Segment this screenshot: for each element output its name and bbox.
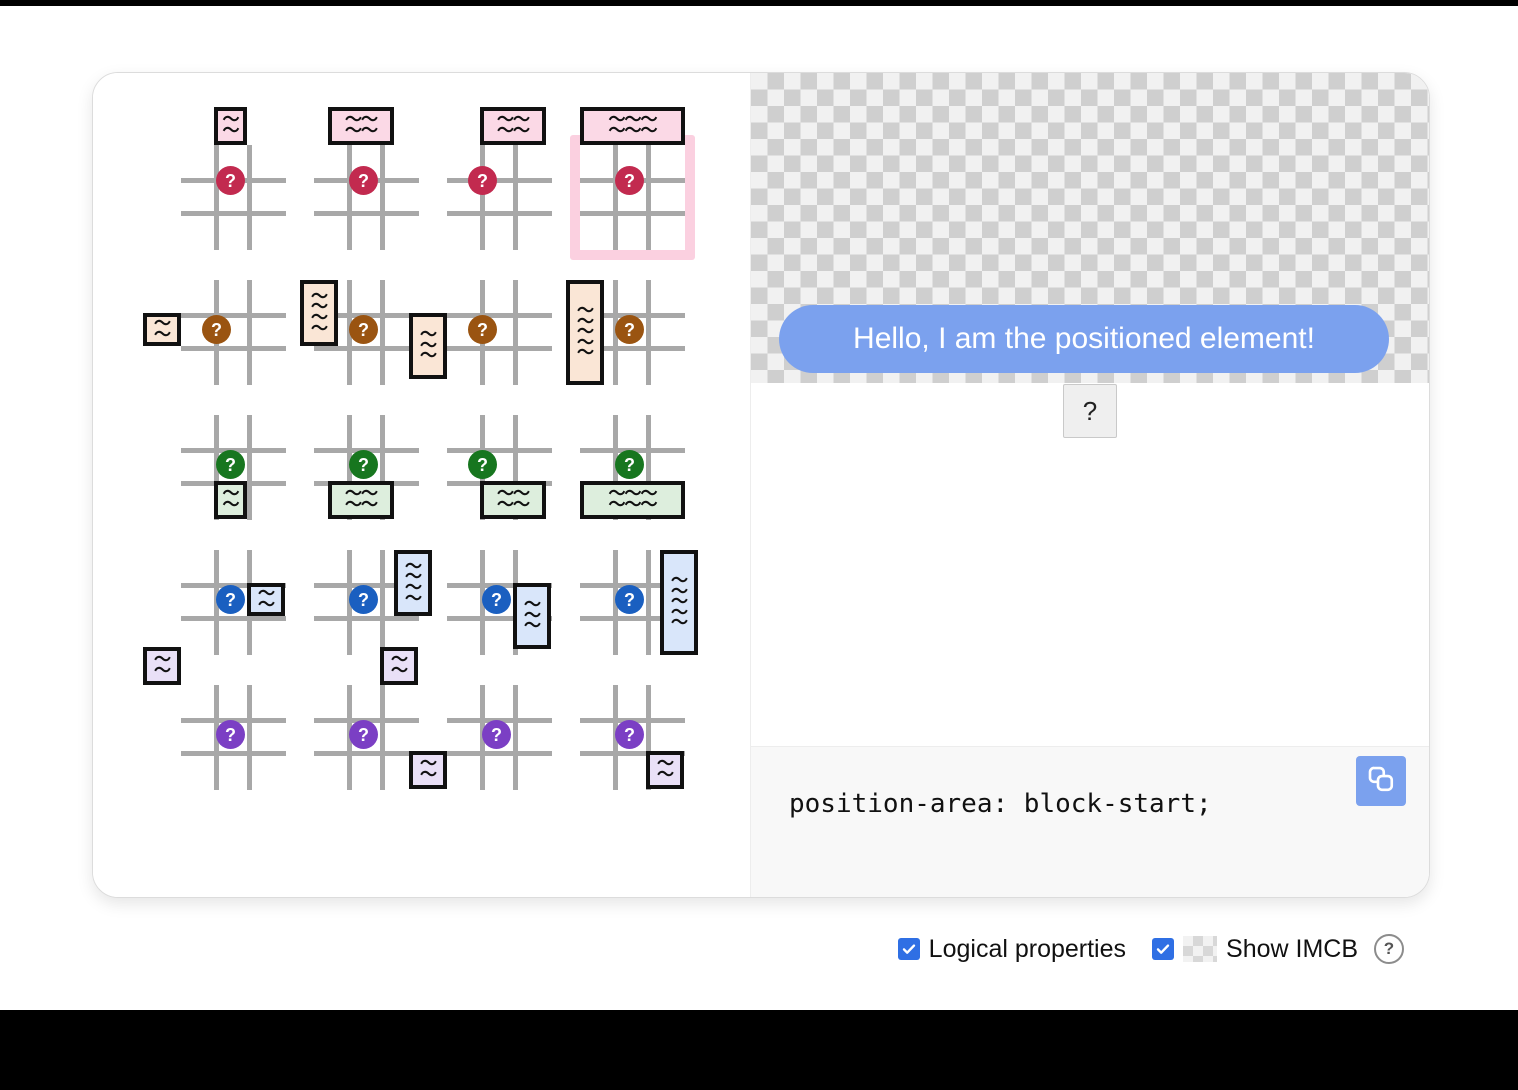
squiggle-text-icon: 〜 <box>420 770 436 781</box>
position-area-diagram: 〜〜〜〜〜〜? <box>580 145 685 250</box>
anchor-dot-icon: ? <box>216 720 245 749</box>
show-imcb-label: Show IMCB <box>1226 935 1358 964</box>
positioned-element-glyph: 〜〜〜〜 <box>328 107 394 145</box>
code-panel: position-area: block-start; <box>751 746 1429 897</box>
position-area-diagram: 〜〜〜〜? <box>314 280 419 385</box>
squiggle-text-icon: 〜〜 <box>497 126 529 137</box>
grid-line <box>513 685 518 790</box>
anchor-button[interactable]: ? <box>1063 384 1117 438</box>
positioned-element-text: Hello, I am the positioned element! <box>853 322 1315 356</box>
grid-line <box>447 211 552 216</box>
position-area-option[interactable]: 〜〜〜〜? <box>437 405 570 540</box>
grid-line <box>247 415 252 520</box>
help-icon-glyph: ? <box>1384 939 1394 959</box>
grid-line <box>181 313 286 318</box>
squiggle-text-icon: 〜 <box>577 348 593 359</box>
squiggle-text-icon: 〜 <box>391 666 407 677</box>
position-area-diagram: 〜〜〜〜? <box>314 145 419 250</box>
position-area-diagram: 〜〜〜〜? <box>314 550 419 655</box>
position-area-option-bg: 〜〜? <box>570 675 695 800</box>
position-area-option[interactable]: 〜〜〜〜? <box>437 135 570 270</box>
anchor-dot-icon: ? <box>216 166 245 195</box>
position-area-option[interactable]: 〜〜〜〜〜? <box>570 540 703 675</box>
positioned-element-glyph: 〜〜 <box>409 751 447 789</box>
footer-controls: Logical properties Show IMCB ? <box>0 925 1428 973</box>
copy-icon <box>1366 764 1396 799</box>
logical-properties-label: Logical properties <box>929 935 1126 964</box>
anchor-dot-icon: ? <box>349 720 378 749</box>
position-area-diagram: 〜〜〜? <box>447 550 552 655</box>
squiggle-text-icon: 〜 <box>671 618 687 629</box>
position-area-diagram: 〜〜〜〜? <box>447 145 552 250</box>
positioned-element-glyph: 〜〜 <box>143 647 181 685</box>
squiggle-text-icon: 〜 <box>258 600 274 611</box>
squiggle-text-icon: 〜〜 <box>345 126 377 137</box>
position-area-option-bg: 〜〜〜〜〜〜? <box>570 405 695 530</box>
position-area-diagram: 〜〜? <box>314 685 419 790</box>
show-imcb-control[interactable]: Show IMCB <box>1152 935 1358 964</box>
squiggle-text-icon: 〜 <box>223 500 239 511</box>
position-area-diagram: 〜〜? <box>181 280 286 385</box>
grid-line <box>181 751 286 756</box>
positioned-element-glyph: 〜〜 <box>380 647 418 685</box>
position-area-diagram: 〜〜〜〜〜〜? <box>580 415 685 520</box>
css-declaration: position-area: block-start; <box>789 789 1212 819</box>
anchor-dot-icon: ? <box>349 315 378 344</box>
logical-properties-control[interactable]: Logical properties <box>898 935 1126 964</box>
position-area-option-bg: 〜〜? <box>171 675 296 800</box>
squiggle-text-icon: 〜 <box>154 666 170 677</box>
positioned-element-bubble: Hello, I am the positioned element! <box>779 305 1389 373</box>
grid-line <box>646 145 651 250</box>
squiggle-text-icon: 〜 <box>524 621 540 632</box>
squiggle-text-icon: 〜 <box>420 351 436 362</box>
grid-line <box>580 211 685 216</box>
positioned-element-glyph: 〜〜〜〜 <box>300 280 338 346</box>
position-area-option-bg: 〜〜? <box>171 270 296 395</box>
preview-pane: Hello, I am the positioned element! ? po… <box>750 73 1429 897</box>
anchor-dot-icon: ? <box>615 450 644 479</box>
anchor-dot-icon: ? <box>615 315 644 344</box>
grid-line <box>646 550 651 655</box>
anchor-dot-icon: ? <box>468 450 497 479</box>
position-area-option[interactable]: 〜〜〜〜〜〜? <box>570 405 703 540</box>
anchor-dot-icon: ? <box>482 585 511 614</box>
anchor-dot-icon: ? <box>216 585 245 614</box>
position-area-option[interactable]: 〜〜? <box>171 135 304 270</box>
squiggle-text-icon: 〜 <box>154 330 170 341</box>
help-icon[interactable]: ? <box>1374 934 1404 964</box>
position-area-option[interactable]: 〜〜? <box>437 675 570 810</box>
position-area-diagram: 〜〜〜〜〜? <box>580 280 685 385</box>
squiggle-text-icon: 〜 <box>657 770 673 781</box>
position-area-diagram: 〜〜〜〜? <box>314 415 419 520</box>
position-area-option[interactable]: 〜〜〜? <box>437 540 570 675</box>
position-area-diagram: 〜〜? <box>181 685 286 790</box>
position-area-option-bg: 〜〜〜? <box>437 270 562 395</box>
grid-line <box>247 280 252 385</box>
positioned-element-glyph: 〜〜〜 <box>513 583 551 649</box>
grid-line <box>447 448 552 453</box>
position-area-option-bg: 〜〜〜〜〜? <box>570 540 695 665</box>
squiggle-text-icon: 〜 <box>311 324 327 335</box>
imcb-swatch-icon <box>1183 936 1217 962</box>
position-area-option-bg: 〜〜? <box>437 675 562 800</box>
position-area-option-bg: 〜〜〜〜〜? <box>570 270 695 395</box>
grid-line <box>314 346 419 351</box>
anchor-dot-icon: ? <box>349 166 378 195</box>
logical-properties-checkbox[interactable] <box>898 938 920 960</box>
positioned-element-glyph: 〜〜〜〜〜〜 <box>580 481 685 519</box>
position-area-diagram: 〜〜〜〜〜? <box>580 550 685 655</box>
positioned-element-glyph: 〜〜〜〜〜 <box>660 550 698 655</box>
anchor-dot-icon: ? <box>468 166 497 195</box>
position-area-option-bg: 〜〜〜〜? <box>304 405 429 530</box>
screen-bottom-bar <box>0 1010 1518 1090</box>
position-area-option-bg: 〜〜? <box>171 540 296 665</box>
grid-line <box>181 346 286 351</box>
copy-button[interactable] <box>1356 756 1406 806</box>
positioned-element-glyph: 〜〜〜 <box>409 313 447 379</box>
position-area-diagram: 〜〜〜〜? <box>447 415 552 520</box>
position-area-option-bg: 〜〜〜〜? <box>437 135 562 260</box>
grid-line <box>513 280 518 385</box>
grid-line <box>247 145 252 250</box>
squiggle-text-icon: 〜〜〜 <box>609 500 657 511</box>
positioned-element-glyph: 〜〜 <box>214 481 247 519</box>
squiggle-text-icon: 〜〜〜 <box>609 126 657 137</box>
grid-line <box>347 145 352 250</box>
grid-line <box>214 145 219 250</box>
position-area-diagram: 〜〜? <box>181 145 286 250</box>
position-area-option-bg: 〜〜〜〜? <box>304 135 429 260</box>
position-area-option[interactable]: 〜〜? <box>171 675 304 810</box>
position-area-option-bg: 〜〜〜〜〜〜? <box>570 135 695 260</box>
grid-line <box>646 280 651 385</box>
anchor-dot-icon: ? <box>468 315 497 344</box>
anchor-dot-icon: ? <box>349 585 378 614</box>
positioned-element-glyph: 〜〜〜〜〜 <box>566 280 604 385</box>
anchor-dot-icon: ? <box>615 720 644 749</box>
grid-line <box>181 211 286 216</box>
positioned-element-glyph: 〜〜〜〜〜〜 <box>580 107 685 145</box>
position-area-option[interactable]: 〜〜〜〜? <box>304 135 437 270</box>
anchor-dot-icon: ? <box>216 450 245 479</box>
positioned-element-glyph: 〜〜〜〜 <box>328 481 394 519</box>
position-area-option[interactable]: 〜〜? <box>171 405 304 540</box>
position-area-option[interactable]: 〜〜? <box>171 270 304 405</box>
screen-top-bar <box>0 0 1518 6</box>
grid-line <box>380 685 385 790</box>
anchor-dot-icon: ? <box>202 315 231 344</box>
anchor-dot-icon: ? <box>482 720 511 749</box>
position-area-diagram: 〜〜? <box>181 550 286 655</box>
grid-line <box>447 751 552 756</box>
positioned-element-glyph: 〜〜 <box>143 313 181 346</box>
positioned-element-glyph: 〜〜〜〜 <box>394 550 432 616</box>
grid-line <box>447 313 552 318</box>
anchor-dot-icon: ? <box>615 585 644 614</box>
squiggle-text-icon: 〜 <box>405 594 421 605</box>
position-area-option-bg: 〜〜〜? <box>437 540 562 665</box>
grid-line <box>513 145 518 250</box>
anchor-dot-icon: ? <box>349 450 378 479</box>
squiggle-text-icon: 〜〜 <box>497 500 529 511</box>
position-area-option[interactable]: 〜〜? <box>171 540 304 675</box>
position-area-option[interactable]: 〜〜〜〜? <box>304 405 437 540</box>
positioned-element-glyph: 〜〜 <box>214 107 247 145</box>
grid-line <box>613 145 618 250</box>
position-area-option[interactable]: 〜〜? <box>304 675 437 810</box>
position-area-diagram: 〜〜? <box>447 685 552 790</box>
position-area-card: 〜〜?〜〜〜〜?〜〜〜〜?〜〜〜〜〜〜?〜〜?〜〜〜〜?〜〜〜?〜〜〜〜〜?〜〜… <box>92 72 1430 898</box>
position-area-grid[interactable]: 〜〜?〜〜〜〜?〜〜〜〜?〜〜〜〜〜〜?〜〜?〜〜〜〜?〜〜〜?〜〜〜〜〜?〜〜… <box>171 135 703 810</box>
squiggle-text-icon: 〜〜 <box>345 500 377 511</box>
position-area-option[interactable]: 〜〜〜〜〜〜? <box>570 135 703 270</box>
position-area-option-bg: 〜〜? <box>171 405 296 530</box>
grid-line <box>380 280 385 385</box>
show-imcb-checkbox[interactable] <box>1152 938 1174 960</box>
position-area-option[interactable]: 〜〜? <box>570 675 703 810</box>
anchor-dot-icon: ? <box>615 166 644 195</box>
grid-line <box>380 145 385 250</box>
grid-line <box>181 616 286 621</box>
grid-line <box>480 145 485 250</box>
position-area-option[interactable]: 〜〜〜? <box>437 270 570 405</box>
position-area-diagram: 〜〜? <box>580 685 685 790</box>
positioned-element-glyph: 〜〜〜〜 <box>480 481 546 519</box>
position-area-option[interactable]: 〜〜〜〜〜? <box>570 270 703 405</box>
position-area-option-bg: 〜〜? <box>171 135 296 260</box>
position-area-diagram: 〜〜? <box>181 415 286 520</box>
grid-line <box>314 616 419 621</box>
anchor-button-label: ? <box>1083 396 1097 427</box>
grid-line <box>447 346 552 351</box>
grid-line <box>447 178 552 183</box>
grid-line <box>380 550 385 655</box>
squiggle-text-icon: 〜 <box>223 126 239 137</box>
position-area-diagram: 〜〜〜? <box>447 280 552 385</box>
grid-line <box>314 211 419 216</box>
positioned-element-glyph: 〜〜 <box>646 751 684 789</box>
position-area-picker-pane: 〜〜?〜〜〜〜?〜〜〜〜?〜〜〜〜〜〜?〜〜?〜〜〜〜?〜〜〜?〜〜〜〜〜?〜〜… <box>93 73 750 897</box>
position-area-option-bg: 〜〜〜〜? <box>437 405 562 530</box>
grid-line <box>247 685 252 790</box>
positioned-element-glyph: 〜〜〜〜 <box>480 107 546 145</box>
grid-line <box>314 751 419 756</box>
positioned-element-glyph: 〜〜 <box>247 583 285 616</box>
